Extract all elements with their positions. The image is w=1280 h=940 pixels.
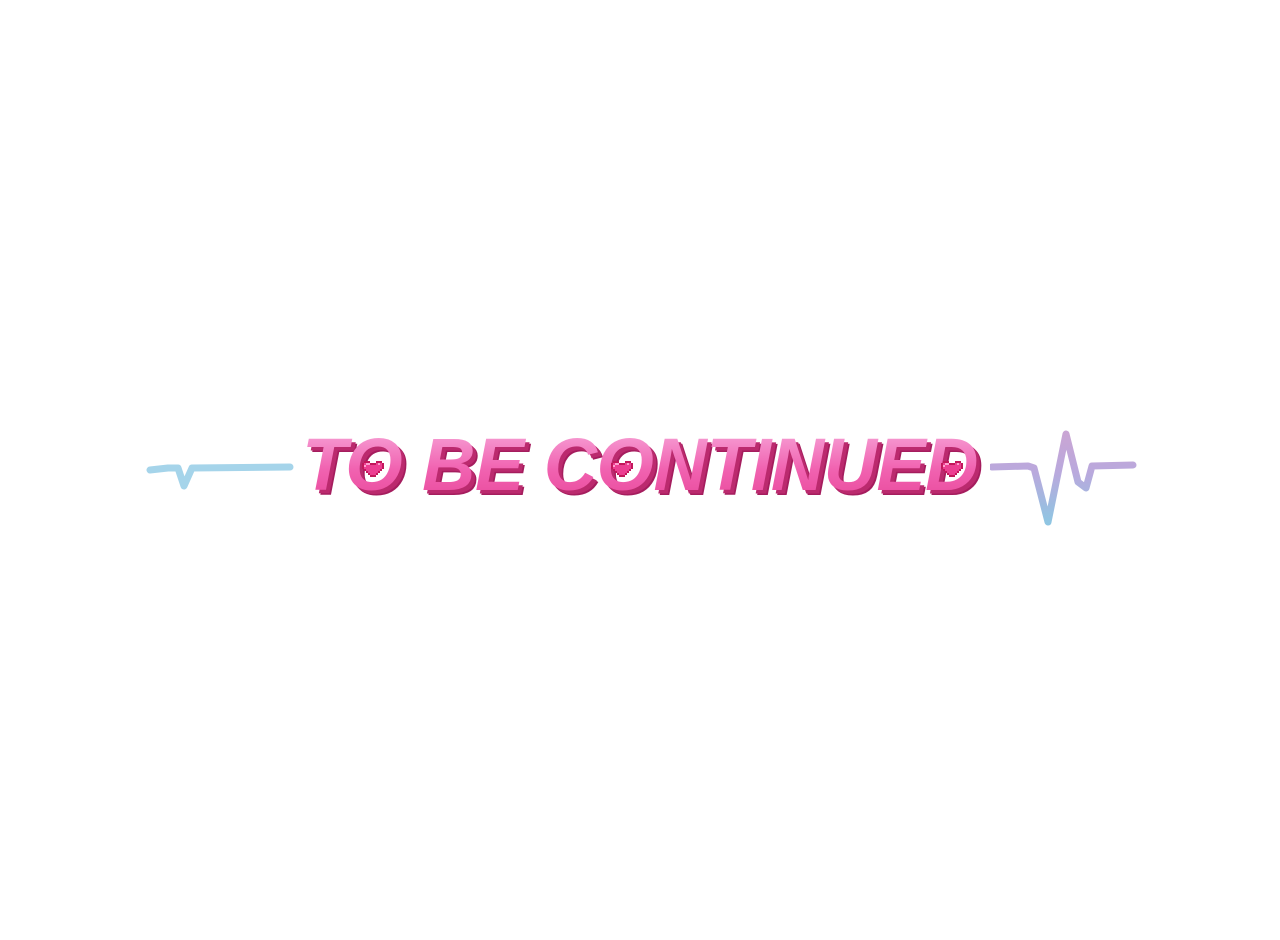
canvas: TO BE CONTINUED <box>0 0 1280 940</box>
to-be-continued-banner: TO BE CONTINUED <box>0 0 1280 940</box>
to-be-continued-text: TO BE CONTINUED <box>290 415 990 525</box>
headline-face <box>302 423 978 506</box>
page-title: TO BE CONTINUED <box>0 415 1280 525</box>
